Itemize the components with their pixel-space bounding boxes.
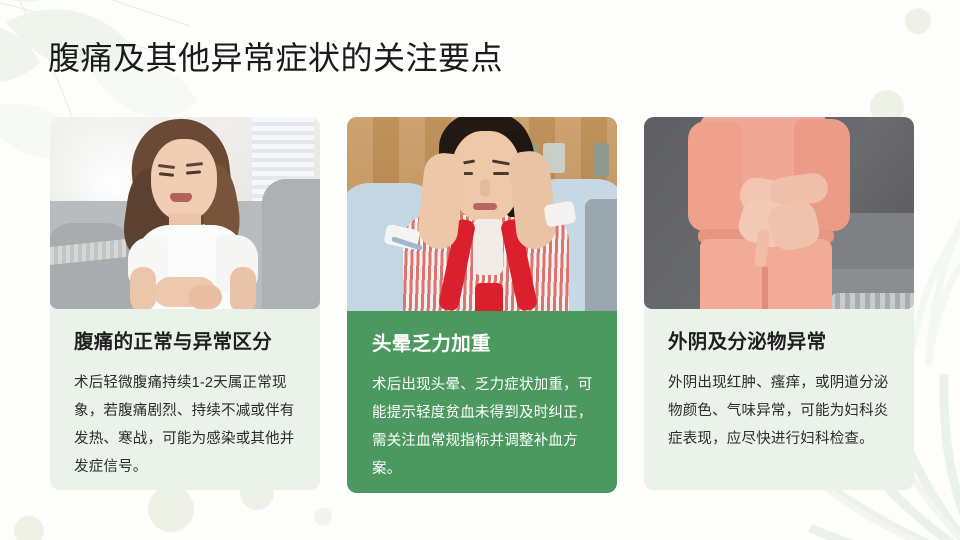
photo-dizziness-fatigue bbox=[347, 117, 617, 311]
bokeh-dot bbox=[314, 508, 332, 526]
card-body: 外阴及分泌物异常 外阴出现红肿、瘙痒，或阴道分泌物颜色、气味异常，可能为妇科炎症… bbox=[644, 309, 914, 453]
card-title: 腹痛的正常与异常区分 bbox=[74, 329, 296, 355]
photo-vulvar-discharge bbox=[644, 117, 914, 309]
card-dizziness-fatigue[interactable]: 头晕乏力加重 术后出现头晕、乏力症状加重，可能提示轻度贫血未得到及时纠正，需关注… bbox=[347, 117, 617, 493]
photo-abdominal-pain bbox=[50, 117, 320, 309]
card-text: 术后出现头晕、乏力症状加重，可能提示轻度贫血未得到及时纠正，需关注血常规指标并调… bbox=[372, 371, 593, 483]
card-row: 腹痛的正常与异常区分 术后轻微腹痛持续1-2天属正常现象，若腹痛剧烈、持续不减或… bbox=[50, 117, 914, 495]
page-title: 腹痛及其他异常症状的关注要点 bbox=[48, 38, 503, 78]
card-text: 术后轻微腹痛持续1-2天属正常现象，若腹痛剧烈、持续不减或伴有发热、寒战，可能为… bbox=[74, 369, 296, 481]
card-body: 头晕乏力加重 术后出现头晕、乏力症状加重，可能提示轻度贫血未得到及时纠正，需关注… bbox=[347, 311, 617, 483]
bokeh-dot bbox=[905, 8, 931, 34]
card-abdominal-pain[interactable]: 腹痛的正常与异常区分 术后轻微腹痛持续1-2天属正常现象，若腹痛剧烈、持续不减或… bbox=[50, 117, 320, 490]
card-title: 外阴及分泌物异常 bbox=[668, 329, 890, 355]
card-text: 外阴出现红肿、瘙痒，或阴道分泌物颜色、气味异常，可能为妇科炎症表现，应尽快进行妇… bbox=[668, 369, 890, 453]
card-title: 头晕乏力加重 bbox=[372, 331, 593, 357]
card-vulvar-discharge[interactable]: 外阴及分泌物异常 外阴出现红肿、瘙痒，或阴道分泌物颜色、气味异常，可能为妇科炎症… bbox=[644, 117, 914, 490]
card-body: 腹痛的正常与异常区分 术后轻微腹痛持续1-2天属正常现象，若腹痛剧烈、持续不减或… bbox=[50, 309, 320, 481]
bokeh-dot bbox=[14, 516, 44, 540]
